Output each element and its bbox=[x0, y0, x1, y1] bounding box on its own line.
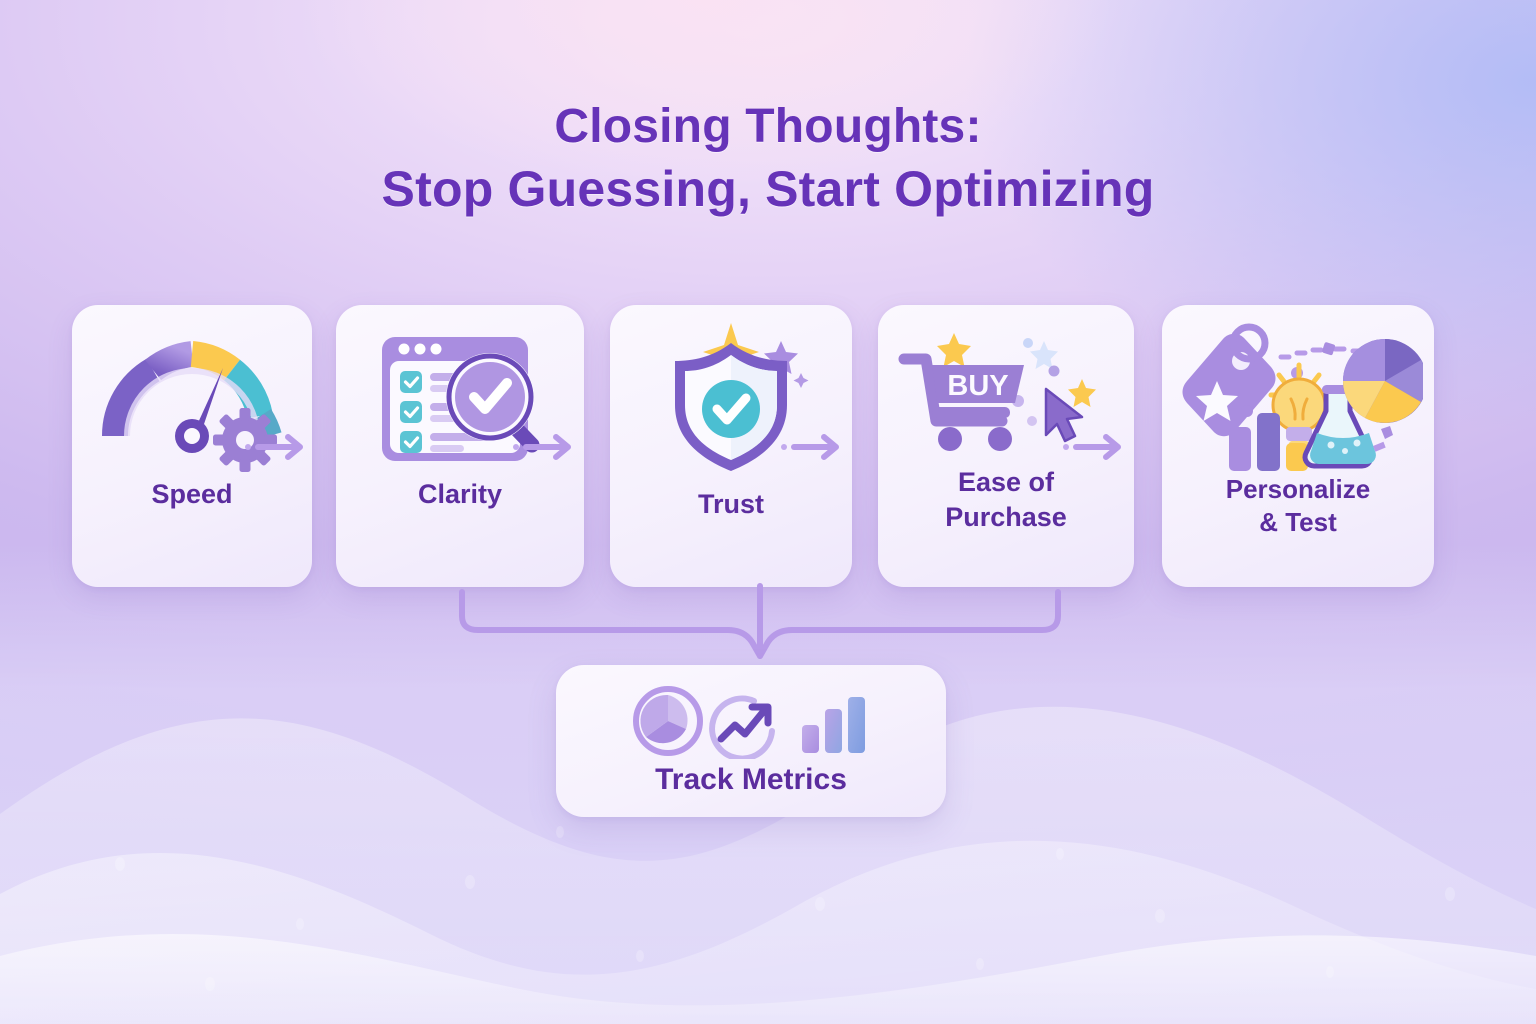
trending-up-arrow-icon bbox=[712, 699, 772, 759]
page-title: Closing Thoughts: Stop Guessing, Start O… bbox=[0, 96, 1536, 221]
flow-connector-1 bbox=[244, 430, 312, 464]
checkbox-icon bbox=[400, 371, 422, 453]
sparkle-icon bbox=[1068, 379, 1096, 407]
outcome-card-track-metrics[interactable]: Track Metrics bbox=[556, 665, 946, 817]
infographic-canvas: Closing Thoughts: Stop Guessing, Start O… bbox=[0, 0, 1536, 1024]
arrow-down-icon bbox=[440, 578, 1080, 668]
arrow-right-icon bbox=[512, 430, 580, 464]
sparkle-icon bbox=[1030, 341, 1058, 369]
flow-connector-3 bbox=[780, 430, 848, 464]
arrow-right-icon bbox=[1062, 430, 1130, 464]
title-line-2: Stop Guessing, Start Optimizing bbox=[0, 157, 1536, 221]
flow-connector-2 bbox=[512, 430, 580, 464]
merge-bracket bbox=[440, 578, 1080, 673]
flow-card-label-clarity: Clarity bbox=[344, 477, 576, 512]
arrow-right-icon bbox=[244, 430, 312, 464]
bar-chart-icon bbox=[802, 697, 865, 753]
flow-card-personalize-test[interactable]: Personalize & Test bbox=[1162, 305, 1434, 587]
flow-card-label-personalize-test: Personalize & Test bbox=[1170, 473, 1426, 540]
flow-card-label-speed: Speed bbox=[80, 477, 304, 512]
title-line-1: Closing Thoughts: bbox=[0, 96, 1536, 157]
donut-chart-icon bbox=[636, 689, 700, 753]
tag-bulb-flask-chart-icon bbox=[1162, 319, 1434, 479]
analytics-charts-icon bbox=[556, 681, 946, 759]
arrow-right-icon bbox=[780, 430, 848, 464]
sparkle-icon bbox=[937, 333, 971, 367]
cart-buy-label: BUY bbox=[947, 370, 1008, 402]
outcome-card-label: Track Metrics bbox=[556, 763, 946, 797]
flow-connector-4 bbox=[1062, 430, 1130, 464]
flow-card-label-ease-of-purchase: Ease of Purchase bbox=[886, 465, 1126, 534]
flow-card-label-trust: Trust bbox=[618, 487, 844, 522]
